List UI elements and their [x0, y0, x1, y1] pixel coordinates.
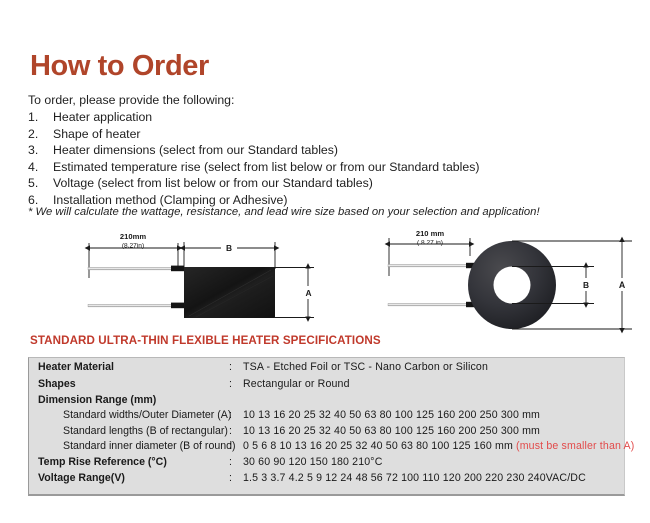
table-row-label: Temp Rise Reference (°C) [29, 456, 229, 468]
heater-diagrams: 210mm (8.27in) B A [0, 228, 650, 336]
table-row: Shapes : Rectangular or Round [29, 378, 624, 394]
list-item-label: Shape of heater [53, 126, 141, 143]
rect-lead-length-in: (8.27in) [122, 243, 144, 250]
table-row-value: TSA - Etched Foil or TSC - Nano Carbon o… [243, 361, 624, 373]
list-item-number: 4. [28, 159, 53, 176]
spec-table: Heater Material : TSA - Etched Foil or T… [28, 357, 625, 496]
list-item-label: Heater application [53, 109, 152, 126]
list-item-number: 3. [28, 142, 53, 159]
table-row: Heater Material : TSA - Etched Foil or T… [29, 358, 624, 378]
table-row-label: Shapes [29, 378, 229, 390]
rect-height-label: A [305, 288, 311, 298]
table-row-value-note: (must be smaller than A) [516, 440, 634, 452]
list-item-label: Heater dimensions (select from our Stand… [53, 142, 338, 159]
list-item: 2. Shape of heater [28, 126, 628, 143]
list-item: 4. Estimated temperature rise (select fr… [28, 159, 628, 176]
list-item-number: 5. [28, 175, 53, 192]
table-row-label: Dimension Range (mm) [29, 394, 229, 406]
table-row-value: 0 5 6 8 10 13 16 20 25 32 40 50 63 80 10… [243, 440, 634, 452]
table-row: Standard inner diameter (B of round) : 0… [29, 440, 624, 456]
table-row: Standard widths/Outer Diameter (A) : 10 … [29, 409, 624, 425]
table-row-label: Standard lengths (B of rectangular) [29, 425, 229, 437]
list-item: 3. Heater dimensions (select from our St… [28, 142, 628, 159]
table-row-value: 10 13 16 20 25 32 40 50 63 80 100 125 16… [243, 409, 624, 421]
list-item-number: 1. [28, 109, 53, 126]
table-row: Temp Rise Reference (°C) : 30 60 90 120 … [29, 456, 624, 472]
table-row-colon: : [229, 425, 243, 437]
round-lead-wires [388, 263, 480, 307]
table-row-value-text: 0 5 6 8 10 13 16 20 25 32 40 50 63 80 10… [243, 440, 516, 452]
round-inner-label: B [583, 280, 589, 290]
list-item: 1. Heater application [28, 109, 628, 126]
list-item-label: Voltage (select from list below or from … [53, 175, 373, 192]
list-item-number: 2. [28, 126, 53, 143]
round-lead-length-mm: 210 mm [416, 229, 445, 238]
table-row-colon: : [229, 472, 243, 484]
table-row-value: 30 60 90 120 150 180 210°C [243, 456, 624, 468]
table-row-label: Standard widths/Outer Diameter (A) [29, 409, 229, 421]
round-outer-label: A [619, 280, 626, 290]
table-row-value: 1.5 3 3.7 4.2 5 9 12 24 48 56 72 100 110… [243, 472, 624, 484]
table-row-colon: : [229, 409, 243, 421]
table-row: Dimension Range (mm) [29, 394, 624, 410]
table-row-label: Heater Material [29, 361, 229, 373]
rect-lead-length-mm: 210mm [120, 232, 146, 241]
table-row: Standard lengths (B of rectangular) : 10… [29, 425, 624, 441]
rect-lead-wires [88, 266, 184, 309]
table-row-value: Rectangular or Round [243, 378, 624, 390]
order-steps-list: 1. Heater application 2. Shape of heater… [28, 109, 628, 209]
list-item-label: Estimated temperature rise (select from … [53, 159, 479, 176]
spec-table-heading: STANDARD ULTRA-THIN FLEXIBLE HEATER SPEC… [30, 334, 381, 347]
table-row: Voltage Range(V) : 1.5 3 3.7 4.2 5 9 12 … [29, 472, 624, 494]
table-row-colon: : [229, 456, 243, 468]
footnote-text: * We will calculate the wattage, resista… [28, 206, 540, 218]
table-row-colon: : [229, 440, 243, 452]
table-row-label: Standard inner diameter (B of round) [29, 440, 229, 452]
intro-text: To order, please provide the following: [28, 93, 234, 107]
list-item: 5. Voltage (select from list below or fr… [28, 175, 628, 192]
rect-width-label: B [226, 243, 232, 253]
table-row-colon: : [229, 361, 243, 373]
round-heater-hole [494, 267, 531, 304]
table-row-value: 10 13 16 20 25 32 40 50 63 80 100 125 16… [243, 425, 624, 437]
round-lead-length-in: ( 8.27 in) [417, 240, 443, 247]
page-title: How to Order [30, 52, 209, 81]
rectangular-heater-body [184, 267, 275, 318]
table-row-label: Voltage Range(V) [29, 472, 229, 484]
table-row-colon: : [229, 378, 243, 390]
